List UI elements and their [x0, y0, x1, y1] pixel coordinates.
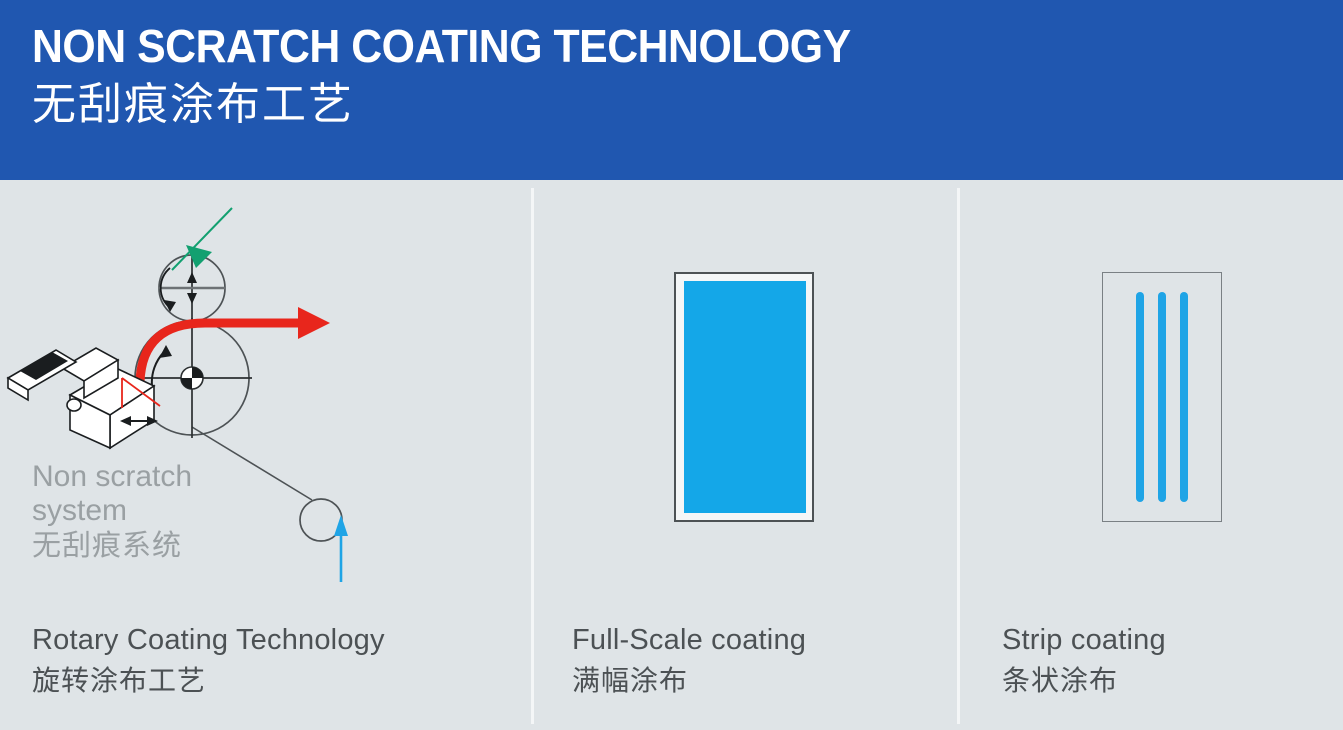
panel-full-scale-coating: Full-Scale coating 满幅涂布 — [534, 180, 958, 730]
caption-full-scale: Full-Scale coating 满幅涂布 — [572, 620, 806, 702]
caption-strip: Strip coating 条状涂布 — [1002, 620, 1166, 702]
header-title-english: NON SCRATCH COATING TECHNOLOGY — [32, 18, 1251, 74]
caption-strip-english: Strip coating — [1002, 620, 1166, 660]
full-scale-coating-swatch-icon — [674, 272, 814, 522]
caption-strip-chinese: 条状涂布 — [1002, 660, 1166, 702]
panel-rotary-coating: Non scratch system 无刮痕系统 Rotary Coating … — [0, 180, 532, 730]
slide-root: NON SCRATCH COATING TECHNOLOGY 无刮痕涂布工艺 — [0, 0, 1343, 730]
non-scratch-label-line2: system — [32, 494, 192, 528]
incoming-web-arrow-green — [172, 208, 232, 270]
applicator-head-icon — [8, 348, 154, 448]
strip-coating-strip — [1136, 292, 1144, 502]
strip-coating-swatch-icon — [1102, 272, 1222, 522]
slide-header: NON SCRATCH COATING TECHNOLOGY 无刮痕涂布工艺 — [0, 0, 1343, 180]
non-scratch-label-chinese: 无刮痕系统 — [32, 528, 192, 562]
panel-strip-coating: Strip coating 条状涂布 — [960, 180, 1343, 730]
full-scale-coating-fill — [684, 281, 806, 513]
strip-coating-strip-group — [1103, 273, 1221, 521]
strip-coating-strip — [1180, 292, 1188, 502]
caption-rotary-chinese: 旋转涂布工艺 — [32, 660, 385, 702]
coated-web-arrow-red — [140, 307, 330, 382]
non-scratch-label-line1: Non scratch — [32, 460, 192, 494]
caption-full-scale-english: Full-Scale coating — [572, 620, 806, 660]
non-scratch-system-label: Non scratch system 无刮痕系统 — [32, 460, 192, 562]
web-direction-arrow-blue — [334, 515, 348, 582]
panel-container: Non scratch system 无刮痕系统 Rotary Coating … — [0, 180, 1343, 730]
caption-full-scale-chinese: 满幅涂布 — [572, 660, 806, 702]
caption-rotary-english: Rotary Coating Technology — [32, 620, 385, 660]
strip-coating-strip — [1158, 292, 1166, 502]
header-title-chinese: 无刮痕涂布工艺 — [32, 74, 1343, 136]
caption-rotary: Rotary Coating Technology 旋转涂布工艺 — [32, 620, 385, 702]
